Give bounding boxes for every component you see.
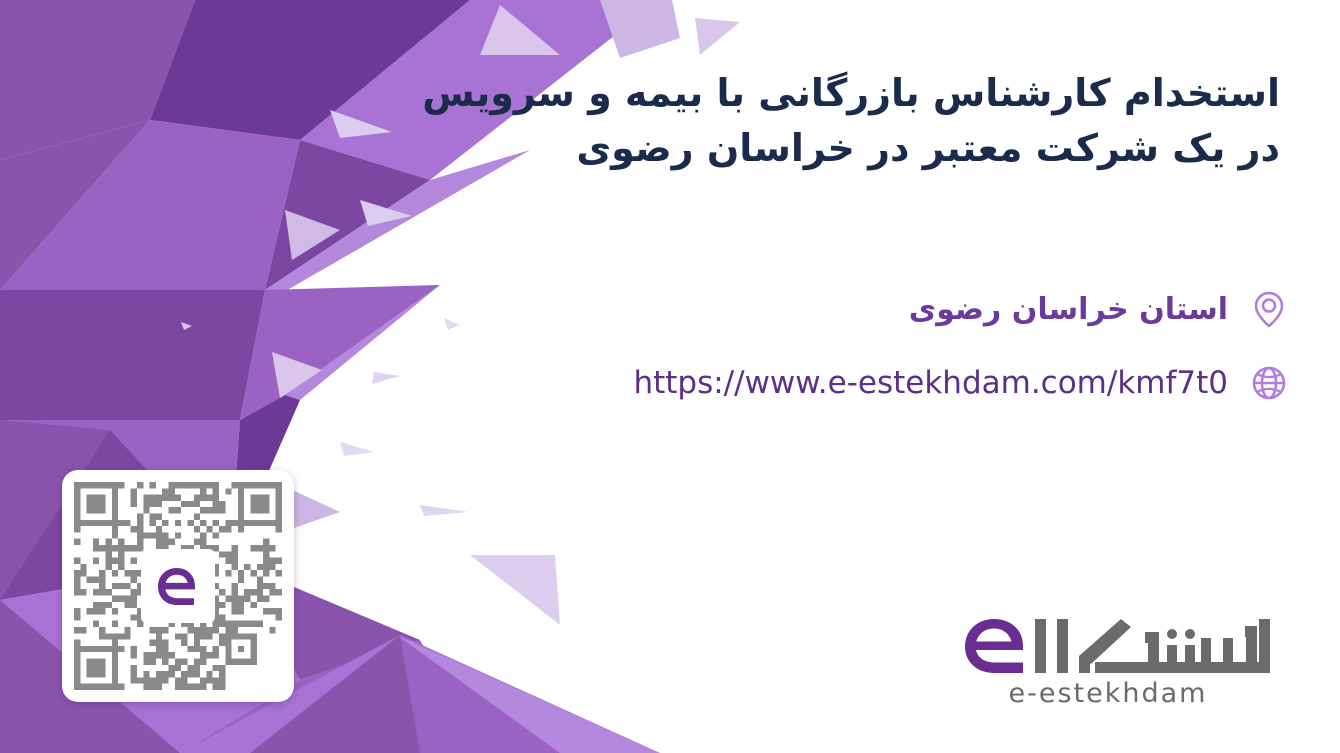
- brand-logo: e-estekhdam: [945, 612, 1275, 717]
- meta-info: استان خراسان رضوی https://www.e-estekhda…: [112, 272, 1292, 420]
- brand-logo-mark: [945, 612, 1275, 678]
- map-pin-icon: [1246, 286, 1292, 332]
- website-url[interactable]: https://www.e-estekhdam.com/kmf7t0: [633, 365, 1228, 401]
- location-text: استان خراسان رضوی: [909, 292, 1228, 327]
- brand-logo-subtitle: e-estekhdam: [945, 678, 1271, 709]
- job-ad-card: استخدام کارشناس بازرگانی با بیمه و سرویس…: [0, 0, 1340, 753]
- headline-line-2: در یک شرکت معتبر در خراسان رضوی: [130, 121, 1280, 176]
- headline-line-1: استخدام کارشناس بازرگانی با بیمه و سرویس: [130, 66, 1280, 121]
- qr-center-logo: [141, 549, 215, 623]
- location-row: استان خراسان رضوی: [112, 272, 1292, 346]
- website-row[interactable]: https://www.e-estekhdam.com/kmf7t0: [112, 346, 1292, 420]
- globe-icon: [1246, 360, 1292, 406]
- headline: استخدام کارشناس بازرگانی با بیمه و سرویس…: [130, 66, 1280, 176]
- qr-code[interactable]: [62, 470, 294, 702]
